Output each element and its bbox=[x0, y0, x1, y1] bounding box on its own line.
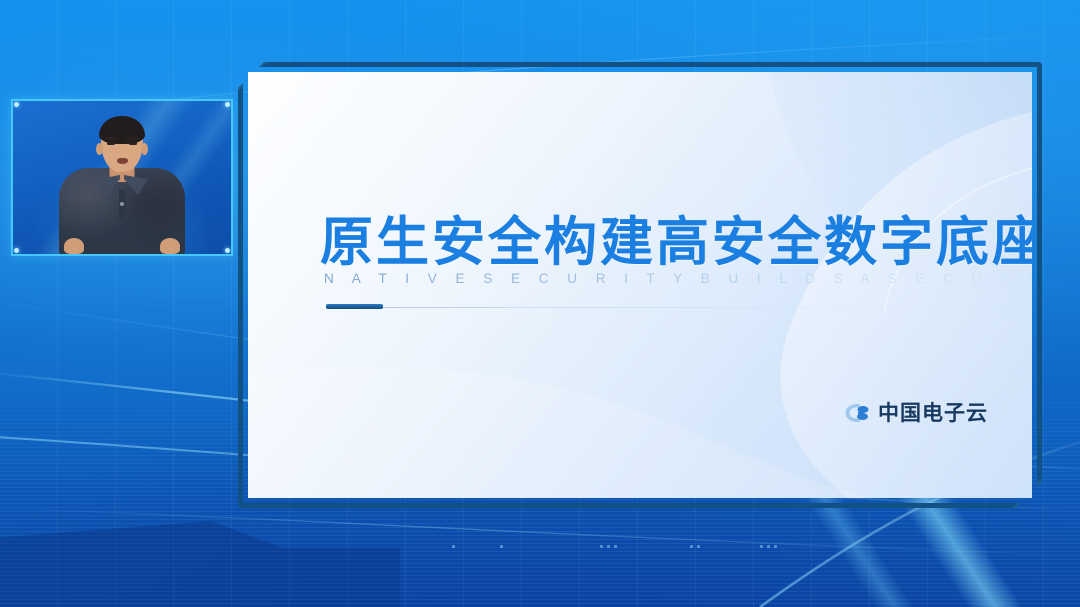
presenter-brow-left bbox=[106, 137, 118, 140]
presenter-brow-right bbox=[126, 137, 138, 140]
title-underline bbox=[326, 304, 966, 310]
brand-logo: 中国电子云 bbox=[844, 402, 988, 424]
title-underline-thin bbox=[326, 307, 966, 308]
background-data-ticks bbox=[0, 545, 1080, 559]
presenter-ear-right bbox=[141, 143, 148, 155]
presenter-eye-right bbox=[129, 142, 137, 145]
presenter-mouth bbox=[117, 158, 128, 164]
video-corner-dot-bottom-left bbox=[14, 248, 19, 253]
slide-title: 原生安全构建高安全数字底座 bbox=[320, 200, 1032, 276]
brand-logo-text: 中国电子云 bbox=[878, 403, 988, 424]
presenter-ear-left bbox=[96, 143, 103, 155]
slide-subtitle: N A T I V E S E C U R I T Y B U I L D S … bbox=[324, 271, 1032, 286]
presenter-button bbox=[120, 202, 124, 206]
cloud-swoosh-logo-icon bbox=[844, 402, 871, 424]
video-corner-dot-bottom-right bbox=[225, 248, 230, 253]
presenter-hand-right bbox=[160, 238, 180, 254]
presenter-video-feed[interactable] bbox=[11, 99, 233, 256]
presenter-figure bbox=[13, 101, 231, 254]
video-corner-dot-top-right bbox=[225, 102, 230, 107]
title-underline-accent bbox=[326, 304, 383, 309]
video-corner-dot-top-left bbox=[14, 102, 19, 107]
slide-frame: 原生安全构建高安全数字底座 N A T I V E S E C U R I T … bbox=[238, 62, 1042, 508]
slide-panel: 原生安全构建高安全数字底座 N A T I V E S E C U R I T … bbox=[248, 72, 1032, 498]
presenter-eye-left bbox=[107, 142, 115, 145]
presenter-hand-left bbox=[64, 238, 84, 254]
slide-stage: 原生安全构建高安全数字底座 N A T I V E S E C U R I T … bbox=[0, 0, 1080, 607]
